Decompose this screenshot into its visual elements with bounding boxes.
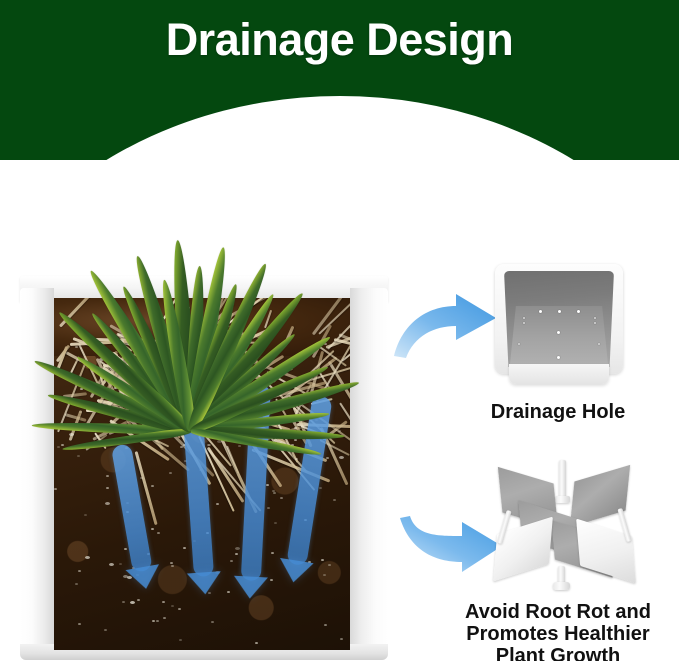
- soil-speck: [140, 477, 143, 479]
- soil-speck: [178, 608, 181, 610]
- caption-root-rot-line2: Promotes Healthier: [438, 623, 678, 645]
- planter-wall-right: [350, 288, 388, 660]
- soil-speck: [69, 433, 74, 436]
- soil-speck: [61, 444, 64, 446]
- soil-speck: [339, 456, 344, 459]
- page-title: Drainage Design: [0, 17, 679, 62]
- soil-speck: [84, 514, 87, 516]
- corner-post-top: [559, 460, 566, 500]
- drainage-hole-dot: [594, 317, 596, 319]
- drainage-hole-dot: [523, 322, 525, 324]
- soil-speck: [78, 623, 81, 625]
- drainage-hole-dot: [594, 322, 596, 324]
- exploded-panel-view: [490, 458, 640, 598]
- drainage-hole-dot: [539, 310, 542, 313]
- planter-interior-floor: [510, 306, 608, 364]
- soil-speck: [183, 547, 186, 549]
- corner-post-bottom-foot: [553, 582, 570, 590]
- soil-speck: [179, 639, 182, 641]
- soil-speck: [152, 620, 155, 622]
- soil-speck: [75, 346, 78, 348]
- soil-speck: [162, 601, 165, 603]
- drainage-hole-dot: [523, 317, 525, 319]
- soil-speck: [57, 446, 60, 448]
- drainage-hole-dot: [557, 331, 560, 334]
- drainage-hole-dot: [518, 343, 520, 345]
- water-flow-arrow-head: [233, 576, 268, 600]
- drainage-hole-dot: [558, 310, 561, 313]
- soil-speck: [238, 445, 241, 447]
- soil-speck: [323, 574, 326, 576]
- soil-speck: [227, 591, 230, 593]
- soil-speck: [235, 547, 240, 550]
- soil-speck: [170, 562, 173, 564]
- water-flow-arrow-head: [187, 571, 222, 595]
- soil-speck: [270, 579, 273, 581]
- soil-speck: [75, 583, 78, 585]
- hero-illustration: [0, 108, 404, 661]
- soil-speck: [208, 444, 211, 446]
- soil-speck: [119, 563, 122, 565]
- soil-speck: [77, 455, 80, 457]
- drainage-hole-dot: [557, 356, 560, 359]
- soil-speck: [130, 601, 135, 604]
- soil-speck: [122, 601, 125, 603]
- corner-post-top-foot: [555, 496, 570, 503]
- soil-speck: [235, 553, 238, 555]
- planter-top-view: [495, 264, 623, 386]
- drainage-hole-dot: [598, 343, 600, 345]
- caption-root-rot: Avoid Root Rot and Promotes Healthier Pl…: [438, 601, 678, 661]
- drainage-hole-dot: [577, 310, 580, 313]
- caption-drainage-hole: Drainage Hole: [438, 401, 678, 423]
- soil-speck: [169, 472, 172, 474]
- soil-speck: [280, 497, 283, 499]
- soil-speck: [273, 492, 276, 494]
- callout-arrow-drainage-hole-icon: [392, 288, 502, 365]
- planter-outer-base: [509, 364, 609, 384]
- caption-root-rot-line3: Plant Growth: [438, 645, 678, 661]
- infographic-canvas: Drainage Design: [0, 0, 679, 661]
- soil-speck: [157, 532, 160, 534]
- soil-speck: [137, 599, 140, 601]
- planter-wall-left: [20, 288, 54, 660]
- soil-speck: [78, 570, 81, 572]
- soil-speck: [151, 528, 154, 530]
- caption-root-rot-line1: Avoid Root Rot and: [438, 601, 678, 623]
- soil-speck: [124, 548, 127, 550]
